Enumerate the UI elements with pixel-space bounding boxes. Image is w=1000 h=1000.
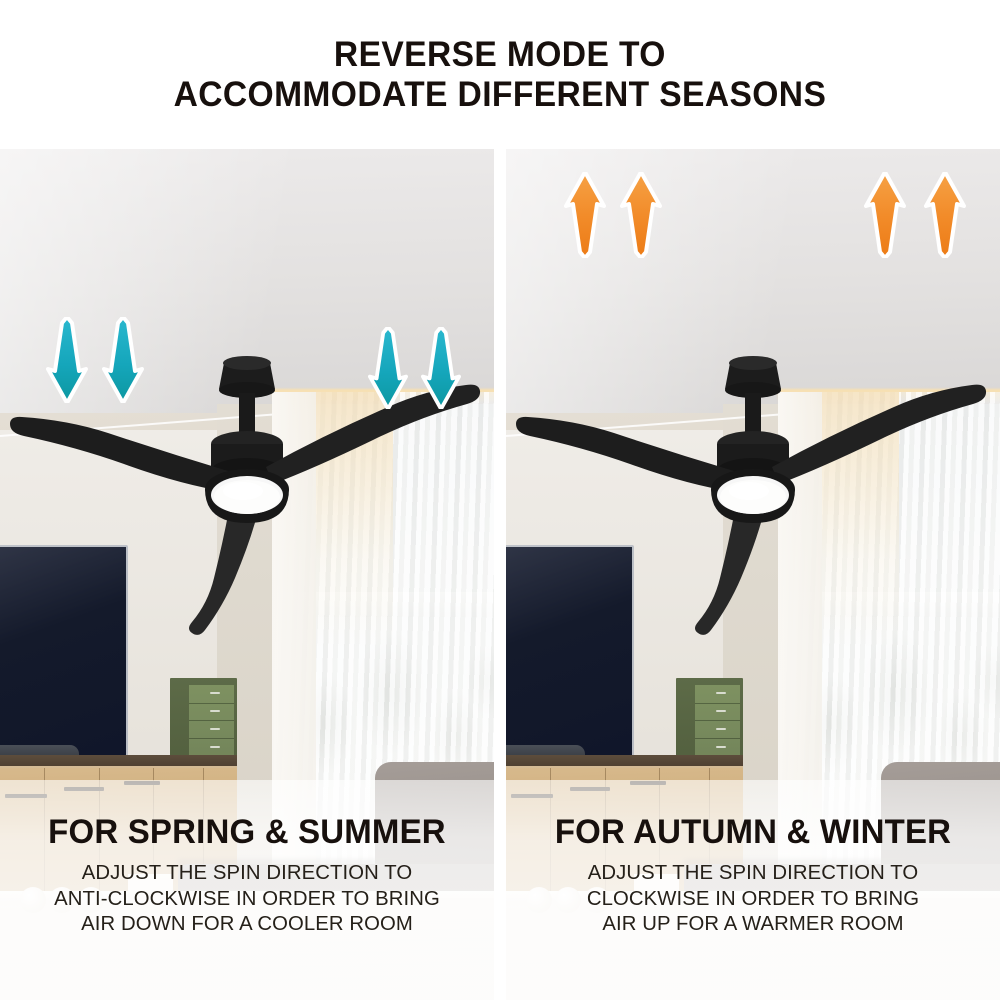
airflow-arrows-right <box>368 327 461 409</box>
page-title-line-2: ACCOMMODATE DIFFERENT SEASONS <box>174 75 827 115</box>
caption-heading: FOR AUTUMN & WINTER <box>521 814 985 851</box>
infographic-page: REVERSE MODE TO ACCOMMODATE DIFFERENT SE… <box>0 0 1000 1000</box>
airflow-arrow-down <box>102 317 144 403</box>
airflow-arrow-up <box>564 172 606 258</box>
television-glare <box>0 545 128 758</box>
header: REVERSE MODE TO ACCOMMODATE DIFFERENT SE… <box>0 0 1000 149</box>
airflow-arrows-left <box>46 317 144 403</box>
airflow-arrow-up <box>864 172 906 258</box>
page-title-line-1: REVERSE MODE TO <box>334 35 666 75</box>
airflow-arrow-down <box>421 327 461 409</box>
caption-body-line: ADJUST THE SPIN DIRECTION TO <box>10 860 483 886</box>
caption-autumn-winter: FOR AUTUMN & WINTER ADJUST THE SPIN DIRE… <box>506 814 1000 937</box>
airflow-arrow-down <box>46 317 88 403</box>
caption-spring-summer: FOR SPRING & SUMMER ADJUST THE SPIN DIRE… <box>0 814 494 937</box>
panel-grid: FOR SPRING & SUMMER ADJUST THE SPIN DIRE… <box>0 149 1000 1000</box>
panel-spring-summer: FOR SPRING & SUMMER ADJUST THE SPIN DIRE… <box>0 149 494 1000</box>
caption-body-line: AIR UP FOR A WARMER ROOM <box>516 911 989 937</box>
panel-autumn-winter: FOR AUTUMN & WINTER ADJUST THE SPIN DIRE… <box>506 149 1000 1000</box>
airflow-arrows-left <box>564 172 662 258</box>
caption-body: ADJUST THE SPIN DIRECTION TO ANTI-CLOCKW… <box>8 860 486 937</box>
airflow-arrow-up <box>924 172 966 258</box>
accent-cabinet-drawers <box>695 685 740 758</box>
caption-body-line: ADJUST THE SPIN DIRECTION TO <box>516 860 989 886</box>
caption-heading: FOR SPRING & SUMMER <box>15 814 479 851</box>
accent-cabinet-drawers <box>189 685 234 758</box>
caption-body-line: AIR DOWN FOR A COOLER ROOM <box>10 911 483 937</box>
caption-body: ADJUST THE SPIN DIRECTION TO CLOCKWISE I… <box>514 860 992 937</box>
caption-body-line: ANTI-CLOCKWISE IN ORDER TO BRING <box>10 886 483 912</box>
airflow-arrow-down <box>368 327 408 409</box>
television-glare <box>506 545 634 758</box>
airflow-arrow-up <box>620 172 662 258</box>
caption-body-line: CLOCKWISE IN ORDER TO BRING <box>516 886 989 912</box>
airflow-arrows-right <box>864 172 966 258</box>
